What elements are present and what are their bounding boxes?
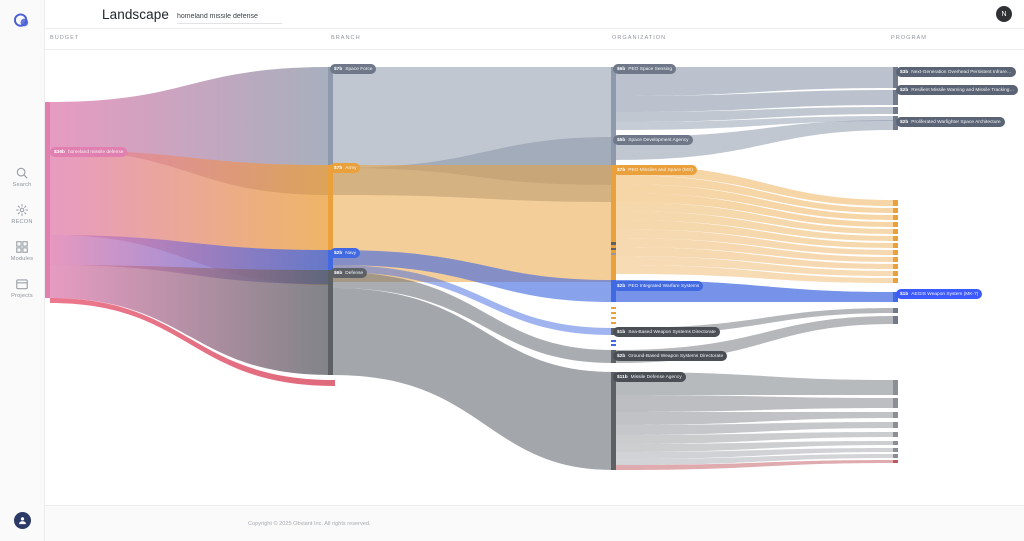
node-bar-prog16[interactable] (893, 271, 898, 276)
node-bar-mda[interactable] (611, 372, 616, 470)
node-bar-mini9[interactable] (611, 312, 616, 314)
node-bar-prog7[interactable] (893, 208, 898, 213)
sidebar-item-label: RECON (11, 219, 32, 226)
page-title: Landscape (102, 7, 169, 22)
app-footer: Copyright © 2025 Obviant Inc. All rights… (45, 505, 1024, 541)
node-label-aegis[interactable]: $1b AEGIS Weapon System (MK-7) (896, 289, 982, 299)
node-label-pwsa[interactable]: $2b Proliferated Warfighter Space Archit… (896, 117, 1005, 127)
node-label-pss[interactable]: $6b PEO Space Sensing (613, 64, 676, 74)
sankey-diagram: $36b homeland missile defense $7b Space … (45, 50, 1024, 505)
node-bar-mini8[interactable] (611, 307, 616, 309)
sidebar-item-label: Search (13, 182, 32, 189)
node-bar-prog15[interactable] (893, 264, 898, 269)
left-sidebar: Search RECON (0, 0, 45, 541)
node-label-hmd[interactable]: $36b homeland missile defense (50, 147, 127, 157)
node-label-gbwsd[interactable]: $2b Ground-Based Weapon Systems Director… (613, 351, 727, 361)
link-hmd-defense (50, 265, 330, 375)
sidebar-item-projects[interactable]: Projects (0, 277, 44, 300)
search-input[interactable] (177, 11, 282, 24)
node-bar-defense[interactable] (328, 270, 333, 375)
node-bar-prog3[interactable] (893, 107, 898, 114)
node-label-mda[interactable]: $11b Missile Defense Agency (613, 372, 686, 382)
node-bar-mini12[interactable] (611, 340, 616, 342)
node-bar-prog22[interactable] (893, 398, 898, 408)
column-header-branch: BRANCH (331, 35, 361, 41)
sidebar-item-recon[interactable]: RECON (0, 203, 44, 226)
sidebar-item-label: Projects (11, 293, 33, 300)
links-organization-to-program (616, 67, 895, 470)
column-header-band: BUDGET BRANCH ORGANIZATION PROGRAM (45, 28, 1024, 50)
node-bar-mini11[interactable] (611, 322, 616, 324)
node-label-rmwmt[interactable]: $2b Resilient Missile Warning and Missil… (896, 85, 1018, 95)
sankey-svg (45, 50, 1024, 505)
node-bar-mini5[interactable] (611, 263, 616, 265)
node-bar-prog9[interactable] (893, 222, 898, 227)
node-bar-prog10[interactable] (893, 229, 898, 234)
node-bar-mini6[interactable] (611, 268, 616, 270)
node-label-army[interactable]: $7b Army (330, 163, 360, 173)
sidebar-item-label: Modules (11, 256, 34, 263)
app-header: Landscape N (45, 0, 1024, 28)
column-header-program: PROGRAM (891, 35, 927, 41)
node-bar-mini4[interactable] (611, 258, 616, 260)
node-bar-prog17[interactable] (893, 278, 898, 283)
modules-icon (15, 240, 29, 254)
node-label-pms[interactable]: $7b PEO Missiles and Space (MS) (613, 165, 697, 175)
node-bar-prog12[interactable] (893, 243, 898, 248)
user-avatar[interactable]: N (996, 6, 1012, 22)
links-branch-to-organization (333, 67, 613, 470)
sidebar-item-modules[interactable]: Modules (0, 240, 44, 263)
search-field-wrapper (177, 5, 282, 24)
node-bar-mini1[interactable] (611, 242, 616, 245)
node-label-ngop[interactable]: $3b Next-Generation Overhead Persistent … (896, 67, 1016, 77)
node-label-piws[interactable]: $2b PEO Integrated Warfare Systems (613, 281, 703, 291)
node-bar-prog6[interactable] (893, 200, 898, 206)
node-bar-prog29[interactable] (893, 460, 898, 463)
node-bar-mini7[interactable] (611, 273, 616, 275)
node-bar-prog14[interactable] (893, 257, 898, 262)
node-bar-prog21[interactable] (893, 380, 898, 395)
node-bar-prog26[interactable] (893, 441, 898, 445)
node-bar-mini3[interactable] (611, 253, 616, 255)
sidebar-item-search[interactable]: Search (0, 166, 44, 189)
obviant-logo-icon[interactable] (9, 8, 35, 34)
node-bar-mini13[interactable] (611, 344, 616, 346)
node-bar-prog20[interactable] (893, 316, 898, 324)
node-bar-prog28[interactable] (893, 454, 898, 458)
app-root: Search RECON (0, 0, 1024, 541)
column-header-budget: BUDGET (50, 35, 79, 41)
node-label-sbwsd[interactable]: $1b Sea-Based Weapon Systems Directorate (613, 327, 720, 337)
node-label-spaceforce[interactable]: $7b Space Force (330, 64, 376, 74)
node-bar-prog25[interactable] (893, 432, 898, 437)
node-bar-mini10[interactable] (611, 317, 616, 319)
node-bar-mini2[interactable] (611, 248, 616, 250)
node-bar-prog23[interactable] (893, 412, 898, 418)
node-bar-prog11[interactable] (893, 236, 898, 241)
node-bar-hmd[interactable] (45, 102, 50, 298)
node-label-sda[interactable]: $5b Space Development Agency (613, 135, 693, 145)
node-bar-prog24[interactable] (893, 422, 898, 428)
node-bar-prog8[interactable] (893, 215, 898, 220)
projects-icon (15, 277, 29, 291)
node-bar-prog19[interactable] (893, 308, 898, 313)
column-header-organization: ORGANIZATION (612, 35, 666, 41)
sidebar-account[interactable] (0, 512, 45, 529)
links-budget-to-branch (50, 67, 335, 386)
account-avatar-icon[interactable] (14, 512, 31, 529)
sidebar-nav: Search RECON (0, 166, 44, 300)
search-icon (15, 166, 29, 180)
copyright-text: Copyright © 2025 Obviant Inc. All rights… (248, 521, 371, 527)
node-bar-prog27[interactable] (893, 448, 898, 452)
node-bar-prog13[interactable] (893, 250, 898, 255)
recon-icon (15, 203, 29, 217)
link-mda-p2 (616, 395, 895, 412)
node-label-navy[interactable]: $2b Navy (330, 248, 360, 258)
node-label-defense[interactable]: $6b Defense (330, 268, 367, 278)
